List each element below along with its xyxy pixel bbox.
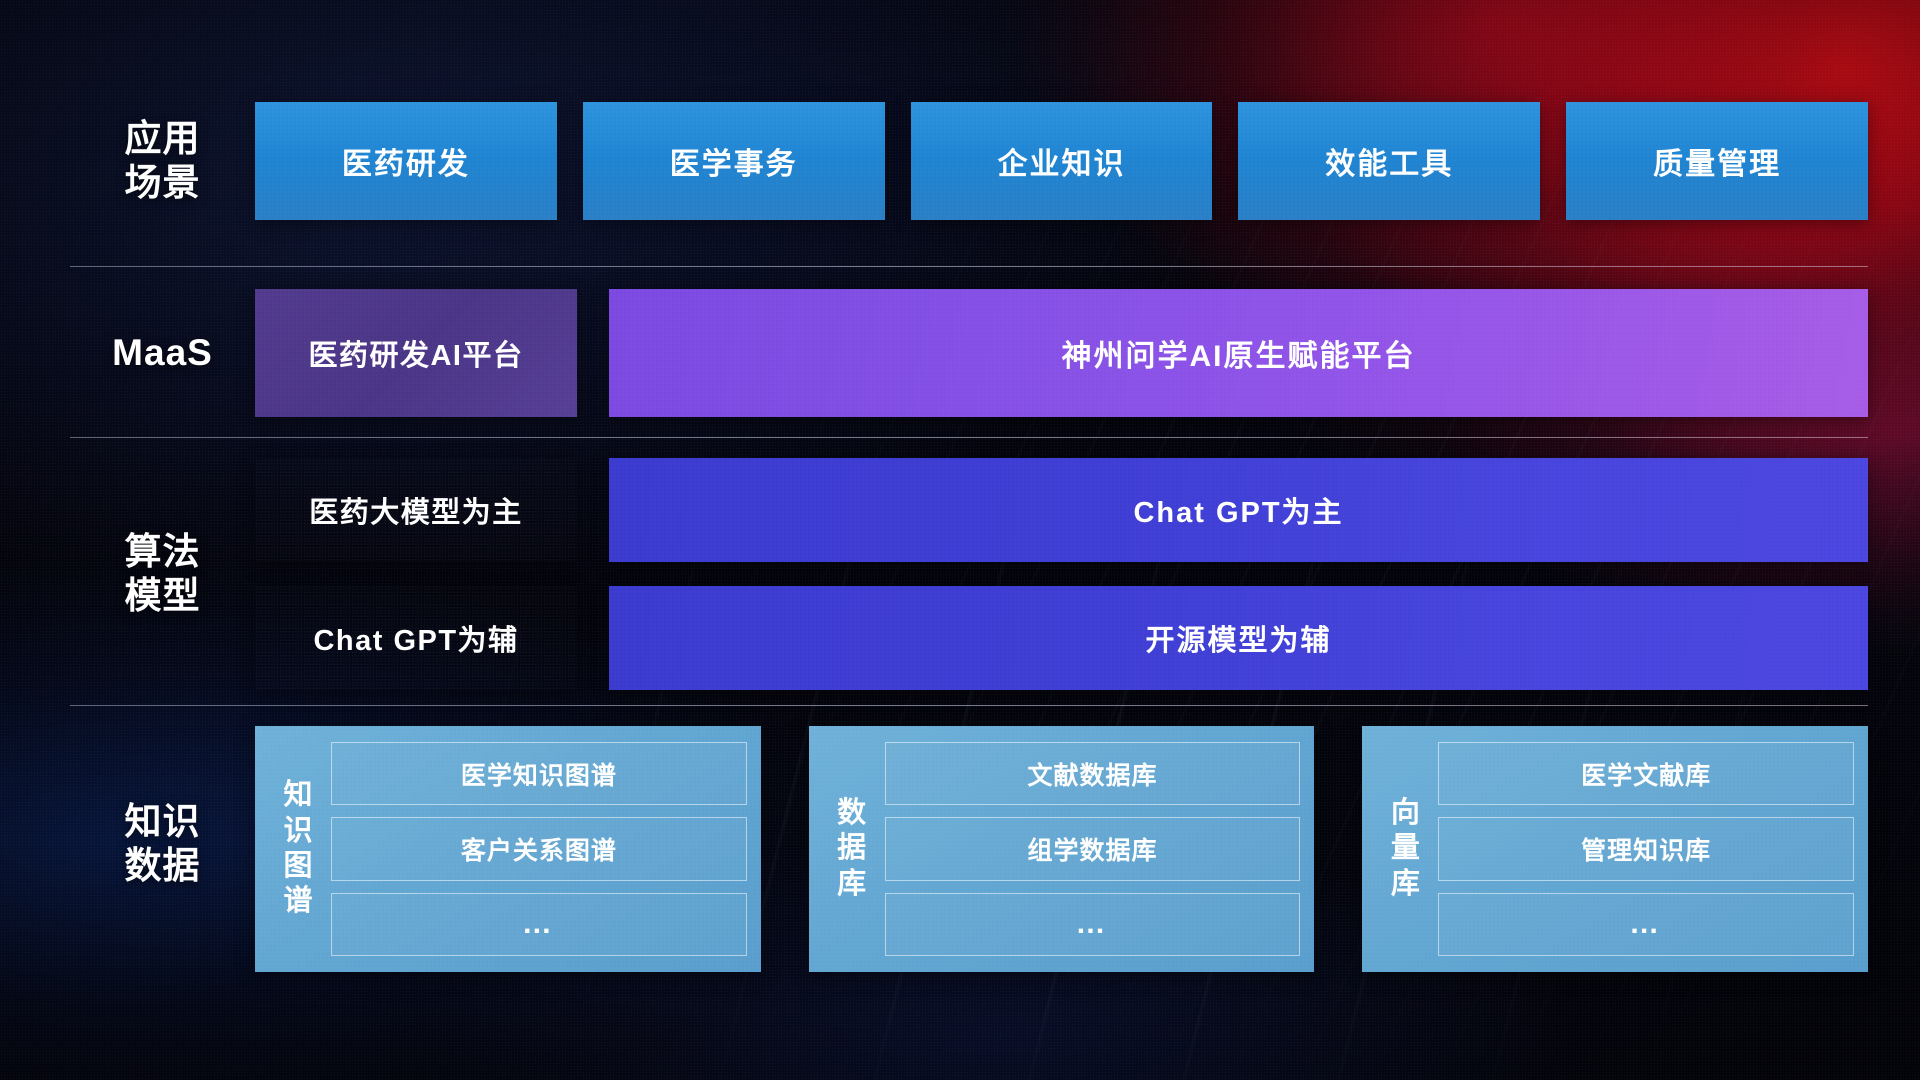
app-card-quality-management[interactable]: 质量管理 (1566, 102, 1868, 220)
divider-application-maas (70, 266, 1868, 267)
algorithm-line-primary: 医药大模型为主 Chat GPT为主 (255, 458, 1868, 562)
app-card-drug-rd[interactable]: 医药研发 (255, 102, 557, 220)
vertical-label-char: 识 (283, 814, 312, 849)
knowledge-row: 知识 数据 知识图谱 医学知识图谱 客户关系图谱 … 数据库 文献数据库 组学数… (70, 726, 1868, 976)
knowledge-card-items: 医学文献库 管理知识库 … (1438, 742, 1854, 956)
algorithm-row-label: 算法 模型 (70, 530, 255, 617)
knowledge-card-vertical-label: 向量库 (1372, 742, 1438, 956)
knowledge-card-items: 医学知识图谱 客户关系图谱 … (331, 742, 747, 956)
knowledge-item-more[interactable]: … (1438, 893, 1854, 956)
maas-card-shenzhou-wenxue-platform[interactable]: 神州问学AI原生赋能平台 (609, 289, 1868, 417)
vertical-label-char: 库 (837, 867, 866, 902)
slide-canvas: 应用 场景 医药研发 医学事务 企业知识 效能工具 质量管理 MaaS 医药研发… (0, 0, 1920, 1080)
vertical-label-char: 谱 (283, 884, 312, 919)
knowledge-item-management-knowledge-store[interactable]: 管理知识库 (1438, 817, 1854, 880)
app-card-medical-affairs[interactable]: 医学事务 (583, 102, 885, 220)
knowledge-card-database[interactable]: 数据库 文献数据库 组学数据库 … (809, 726, 1315, 972)
knowledge-card-vector-store[interactable]: 向量库 医学文献库 管理知识库 … (1362, 726, 1868, 972)
knowledge-item-customer-relation-graph[interactable]: 客户关系图谱 (331, 817, 747, 880)
knowledge-row-body: 知识图谱 医学知识图谱 客户关系图谱 … 数据库 文献数据库 组学数据库 … (255, 726, 1868, 972)
knowledge-card-vertical-label: 数据库 (819, 742, 885, 956)
knowledge-card-knowledge-graph[interactable]: 知识图谱 医学知识图谱 客户关系图谱 … (255, 726, 761, 972)
algorithm-row: 算法 模型 医药大模型为主 Chat GPT为主 Chat GPT为辅 开源模型… (70, 458, 1868, 690)
vertical-label-char: 知 (283, 778, 312, 813)
algorithm-line-secondary: Chat GPT为辅 开源模型为辅 (255, 586, 1868, 690)
knowledge-card-vertical-label: 知识图谱 (265, 742, 331, 956)
knowledge-row-label: 知识 数据 (70, 726, 255, 887)
knowledge-card-items: 文献数据库 组学数据库 … (885, 742, 1301, 956)
knowledge-item-omics-database[interactable]: 组学数据库 (885, 817, 1301, 880)
maas-card-drug-rd-ai-platform[interactable]: 医药研发AI平台 (255, 289, 577, 417)
knowledge-item-medical-knowledge-graph[interactable]: 医学知识图谱 (331, 742, 747, 805)
vertical-label-char: 数 (837, 796, 866, 831)
maas-row-body: 医药研发AI平台 神州问学AI原生赋能平台 (255, 289, 1868, 417)
algo-card-chatgpt-secondary[interactable]: Chat GPT为辅 (255, 586, 577, 690)
algo-card-chatgpt-primary[interactable]: Chat GPT为主 (609, 458, 1868, 562)
divider-algorithm-knowledge (70, 705, 1868, 706)
algo-card-opensource-secondary[interactable]: 开源模型为辅 (609, 586, 1868, 690)
vertical-label-char: 图 (283, 849, 312, 884)
maas-row: MaaS 医药研发AI平台 神州问学AI原生赋能平台 (70, 288, 1868, 418)
app-card-efficiency-tools[interactable]: 效能工具 (1238, 102, 1540, 220)
knowledge-item-more[interactable]: … (331, 893, 747, 956)
application-row: 应用 场景 医药研发 医学事务 企业知识 效能工具 质量管理 (70, 100, 1868, 222)
knowledge-item-medical-literature-store[interactable]: 医学文献库 (1438, 742, 1854, 805)
vertical-label-char: 据 (837, 831, 866, 866)
algorithm-row-body: 医药大模型为主 Chat GPT为主 Chat GPT为辅 开源模型为辅 (255, 458, 1868, 690)
maas-row-label: MaaS (70, 331, 255, 375)
vertical-label-char: 库 (1391, 867, 1420, 902)
divider-maas-algorithm (70, 437, 1868, 438)
knowledge-item-literature-database[interactable]: 文献数据库 (885, 742, 1301, 805)
app-card-enterprise-knowledge[interactable]: 企业知识 (911, 102, 1213, 220)
vertical-label-char: 量 (1391, 831, 1420, 866)
architecture-diagram: 应用 场景 医药研发 医学事务 企业知识 效能工具 质量管理 MaaS 医药研发… (0, 0, 1920, 1080)
vertical-label-char: 向 (1391, 796, 1420, 831)
algo-card-pharma-llm-primary[interactable]: 医药大模型为主 (255, 458, 577, 562)
knowledge-item-more[interactable]: … (885, 893, 1301, 956)
application-row-label: 应用 场景 (70, 117, 255, 204)
application-row-body: 医药研发 医学事务 企业知识 效能工具 质量管理 (255, 102, 1868, 220)
